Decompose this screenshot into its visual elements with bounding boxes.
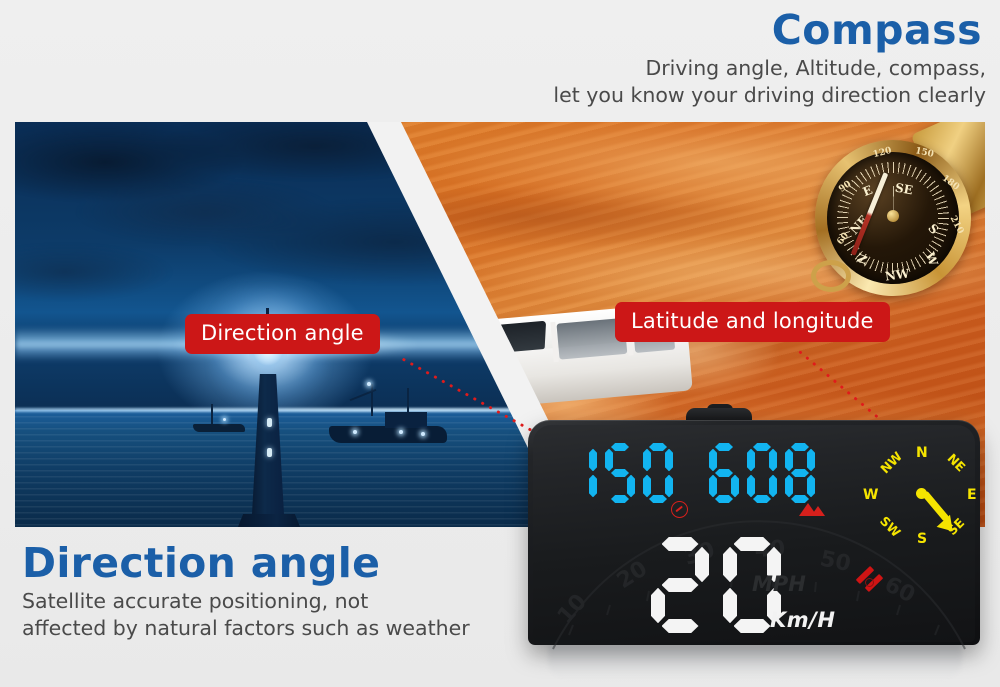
hud-direction-angle-value bbox=[567, 443, 681, 503]
header-subtitle-line2: let you know your driving direction clea… bbox=[426, 82, 986, 109]
seg-a bbox=[715, 443, 733, 451]
boat-hull bbox=[329, 426, 447, 443]
page-title: Compass bbox=[426, 6, 982, 54]
bottom-title: Direction angle bbox=[22, 540, 542, 586]
seg-a bbox=[611, 443, 629, 451]
lighthouse-window bbox=[267, 418, 272, 427]
header-block: Compass Driving angle, Altitude, compass… bbox=[426, 6, 986, 109]
satellite-icon bbox=[855, 570, 881, 592]
seg-d bbox=[649, 495, 667, 503]
seg-f bbox=[747, 449, 755, 472]
rose-heading-arrow-shaft bbox=[922, 491, 949, 522]
bottom-subtitle-line2: affected by natural factors such as weat… bbox=[22, 615, 542, 642]
seg-e bbox=[709, 475, 717, 498]
seg-g bbox=[662, 578, 699, 592]
seg-c bbox=[807, 475, 815, 498]
seg-e bbox=[643, 475, 651, 498]
compass-cardinal-se: SE bbox=[894, 181, 914, 198]
hud-altitude-value bbox=[709, 443, 823, 503]
lighthouse-window bbox=[267, 448, 272, 457]
callout-direction-angle[interactable]: Direction angle bbox=[185, 314, 380, 354]
seg-c bbox=[589, 475, 597, 498]
hud-screen: 10 20 30 40 50 60 bbox=[533, 425, 975, 642]
seg-c bbox=[769, 475, 777, 498]
boat-light bbox=[353, 430, 357, 434]
seg-f bbox=[605, 449, 613, 472]
hud-compass-rose: N NE E SE S SW W NW bbox=[859, 445, 983, 549]
seg-d bbox=[715, 495, 733, 503]
rose-label-n: N bbox=[916, 445, 928, 461]
rose-label-s: S bbox=[917, 531, 927, 547]
ghost-scale-60: 60 bbox=[880, 572, 919, 608]
seg-c bbox=[731, 475, 739, 498]
seg-d bbox=[662, 619, 699, 633]
compass-pivot bbox=[887, 210, 899, 222]
header-subtitle-line1: Driving angle, Altitude, compass, bbox=[426, 55, 986, 82]
rose-label-sw: SW bbox=[877, 513, 904, 540]
boat-mast bbox=[211, 404, 213, 425]
hud-device: 10 20 30 40 50 60 bbox=[528, 420, 980, 645]
seg-b bbox=[769, 449, 777, 472]
seg-f bbox=[709, 449, 717, 472]
seg-a bbox=[791, 443, 809, 451]
seg-g bbox=[791, 469, 809, 477]
seg-d bbox=[791, 495, 809, 503]
seg-a bbox=[662, 537, 699, 551]
seg-f bbox=[643, 449, 651, 472]
seg-g bbox=[611, 469, 629, 477]
compass-hinge bbox=[811, 260, 851, 292]
rose-label-nw: NW bbox=[877, 449, 905, 477]
seg-b bbox=[665, 449, 673, 472]
seg-c bbox=[665, 475, 673, 498]
seg-a bbox=[753, 443, 771, 451]
brass-compass-photo: 60 90 120 150 180 210 E SE NE S N W NW bbox=[801, 122, 985, 312]
seg-g bbox=[715, 469, 733, 477]
compass-icon bbox=[671, 501, 688, 518]
ghost-scale-20: 20 bbox=[613, 556, 652, 594]
lighthouse-base bbox=[231, 514, 307, 527]
bottom-text-block: Direction angle Satellite accurate posit… bbox=[22, 540, 542, 642]
seg-e bbox=[723, 588, 737, 623]
hud-speed-unit-inactive: MPH bbox=[752, 572, 806, 596]
seg-a bbox=[734, 537, 771, 551]
seg-f bbox=[723, 547, 737, 582]
seg-b bbox=[807, 449, 815, 472]
bottom-subtitle-line1: Satellite accurate positioning, not bbox=[22, 588, 542, 615]
seg-e bbox=[785, 475, 793, 498]
rose-label-e: E bbox=[967, 487, 977, 503]
seg-d bbox=[734, 619, 771, 633]
boat-cabin bbox=[385, 412, 427, 428]
callout-latitude-longitude[interactable]: Latitude and longitude bbox=[615, 302, 890, 342]
seg-e bbox=[651, 588, 665, 623]
ghost-scale-10: 10 bbox=[553, 590, 592, 629]
seg-e bbox=[747, 475, 755, 498]
boat-hull bbox=[193, 424, 245, 432]
hud-top-row: N NE E SE S SW W NW bbox=[559, 439, 959, 517]
seg-d bbox=[611, 495, 629, 503]
seg-b bbox=[695, 547, 709, 582]
satellite-body bbox=[865, 578, 874, 587]
rose-label-w: W bbox=[863, 487, 878, 503]
boat-light bbox=[223, 418, 226, 421]
seg-b bbox=[589, 449, 597, 472]
seg-a bbox=[649, 443, 667, 451]
seg-f bbox=[785, 449, 793, 472]
ghost-scale-50: 50 bbox=[818, 546, 853, 577]
boat-light bbox=[399, 430, 403, 434]
boat-mast bbox=[407, 388, 409, 414]
hud-speed-unit: Km/H bbox=[770, 608, 835, 632]
mountain-icon-secondary bbox=[811, 506, 825, 516]
page-background: Compass Driving angle, Altitude, compass… bbox=[0, 0, 1000, 687]
rose-label-ne: NE bbox=[944, 450, 968, 474]
seg-c bbox=[627, 475, 635, 498]
boat-light bbox=[367, 382, 371, 386]
boat-light bbox=[421, 432, 425, 436]
seg-d bbox=[753, 495, 771, 503]
